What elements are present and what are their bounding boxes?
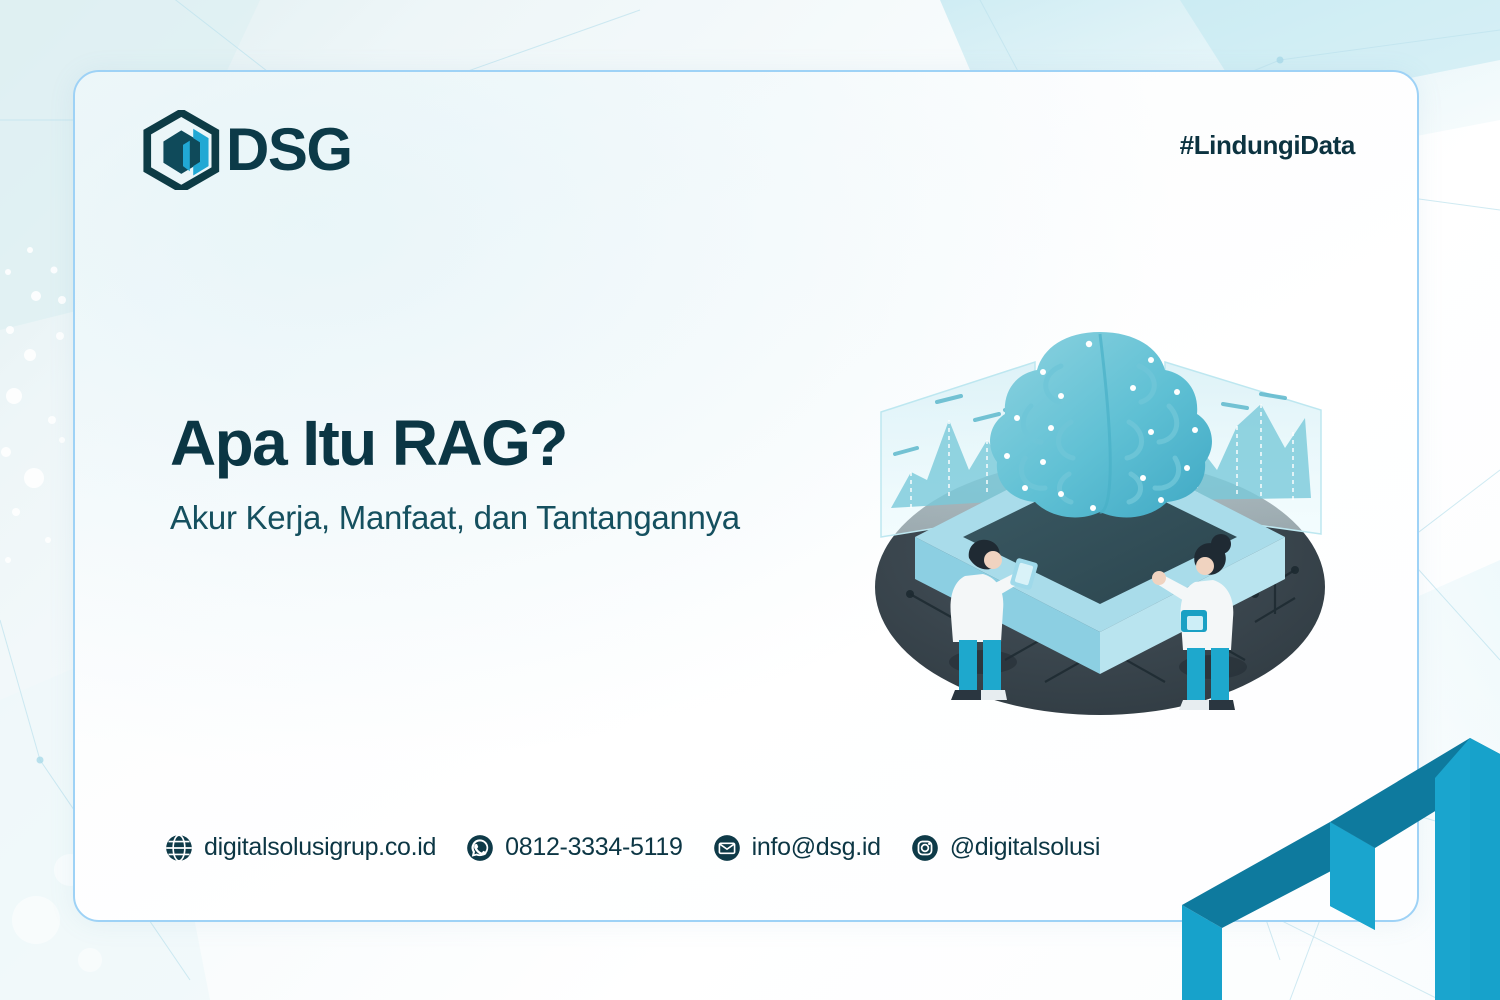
brand-logo-text: DSG bbox=[226, 120, 352, 180]
contact-label-whatsapp: 0812-3334-5119 bbox=[505, 833, 682, 862]
isometric-staircase-shape bbox=[1170, 650, 1500, 1000]
contact-label-email: info@dsg.id bbox=[752, 833, 881, 862]
contact-item-whatsapp[interactable]: 0812-3334-5119 bbox=[466, 833, 682, 862]
brand-logo[interactable]: DSG bbox=[140, 110, 352, 190]
whatsapp-icon bbox=[466, 834, 494, 862]
globe-icon bbox=[165, 834, 193, 862]
contact-label-instagram: @digitalsolusi bbox=[950, 833, 1100, 862]
contact-label-website: digitalsolusigrup.co.id bbox=[204, 833, 436, 862]
headline-block: Apa Itu RAG? Akur Kerja, Manfaat, dan Ta… bbox=[170, 410, 740, 537]
dsg-hexagon-logo-icon bbox=[140, 110, 226, 190]
contact-bar: digitalsolusigrup.co.id 0812-3334-5119 i… bbox=[165, 833, 1100, 862]
contact-item-website[interactable]: digitalsolusigrup.co.id bbox=[165, 833, 436, 862]
contact-item-email[interactable]: info@dsg.id bbox=[713, 833, 881, 862]
instagram-icon bbox=[911, 834, 939, 862]
page-subtitle: Akur Kerja, Manfaat, dan Tantangannya bbox=[170, 499, 740, 537]
hashtag-label: #LindungiData bbox=[1180, 130, 1355, 161]
contact-item-instagram[interactable]: @digitalsolusi bbox=[911, 833, 1100, 862]
email-icon bbox=[713, 834, 741, 862]
page-title: Apa Itu RAG? bbox=[170, 410, 740, 477]
brain bbox=[990, 332, 1212, 517]
